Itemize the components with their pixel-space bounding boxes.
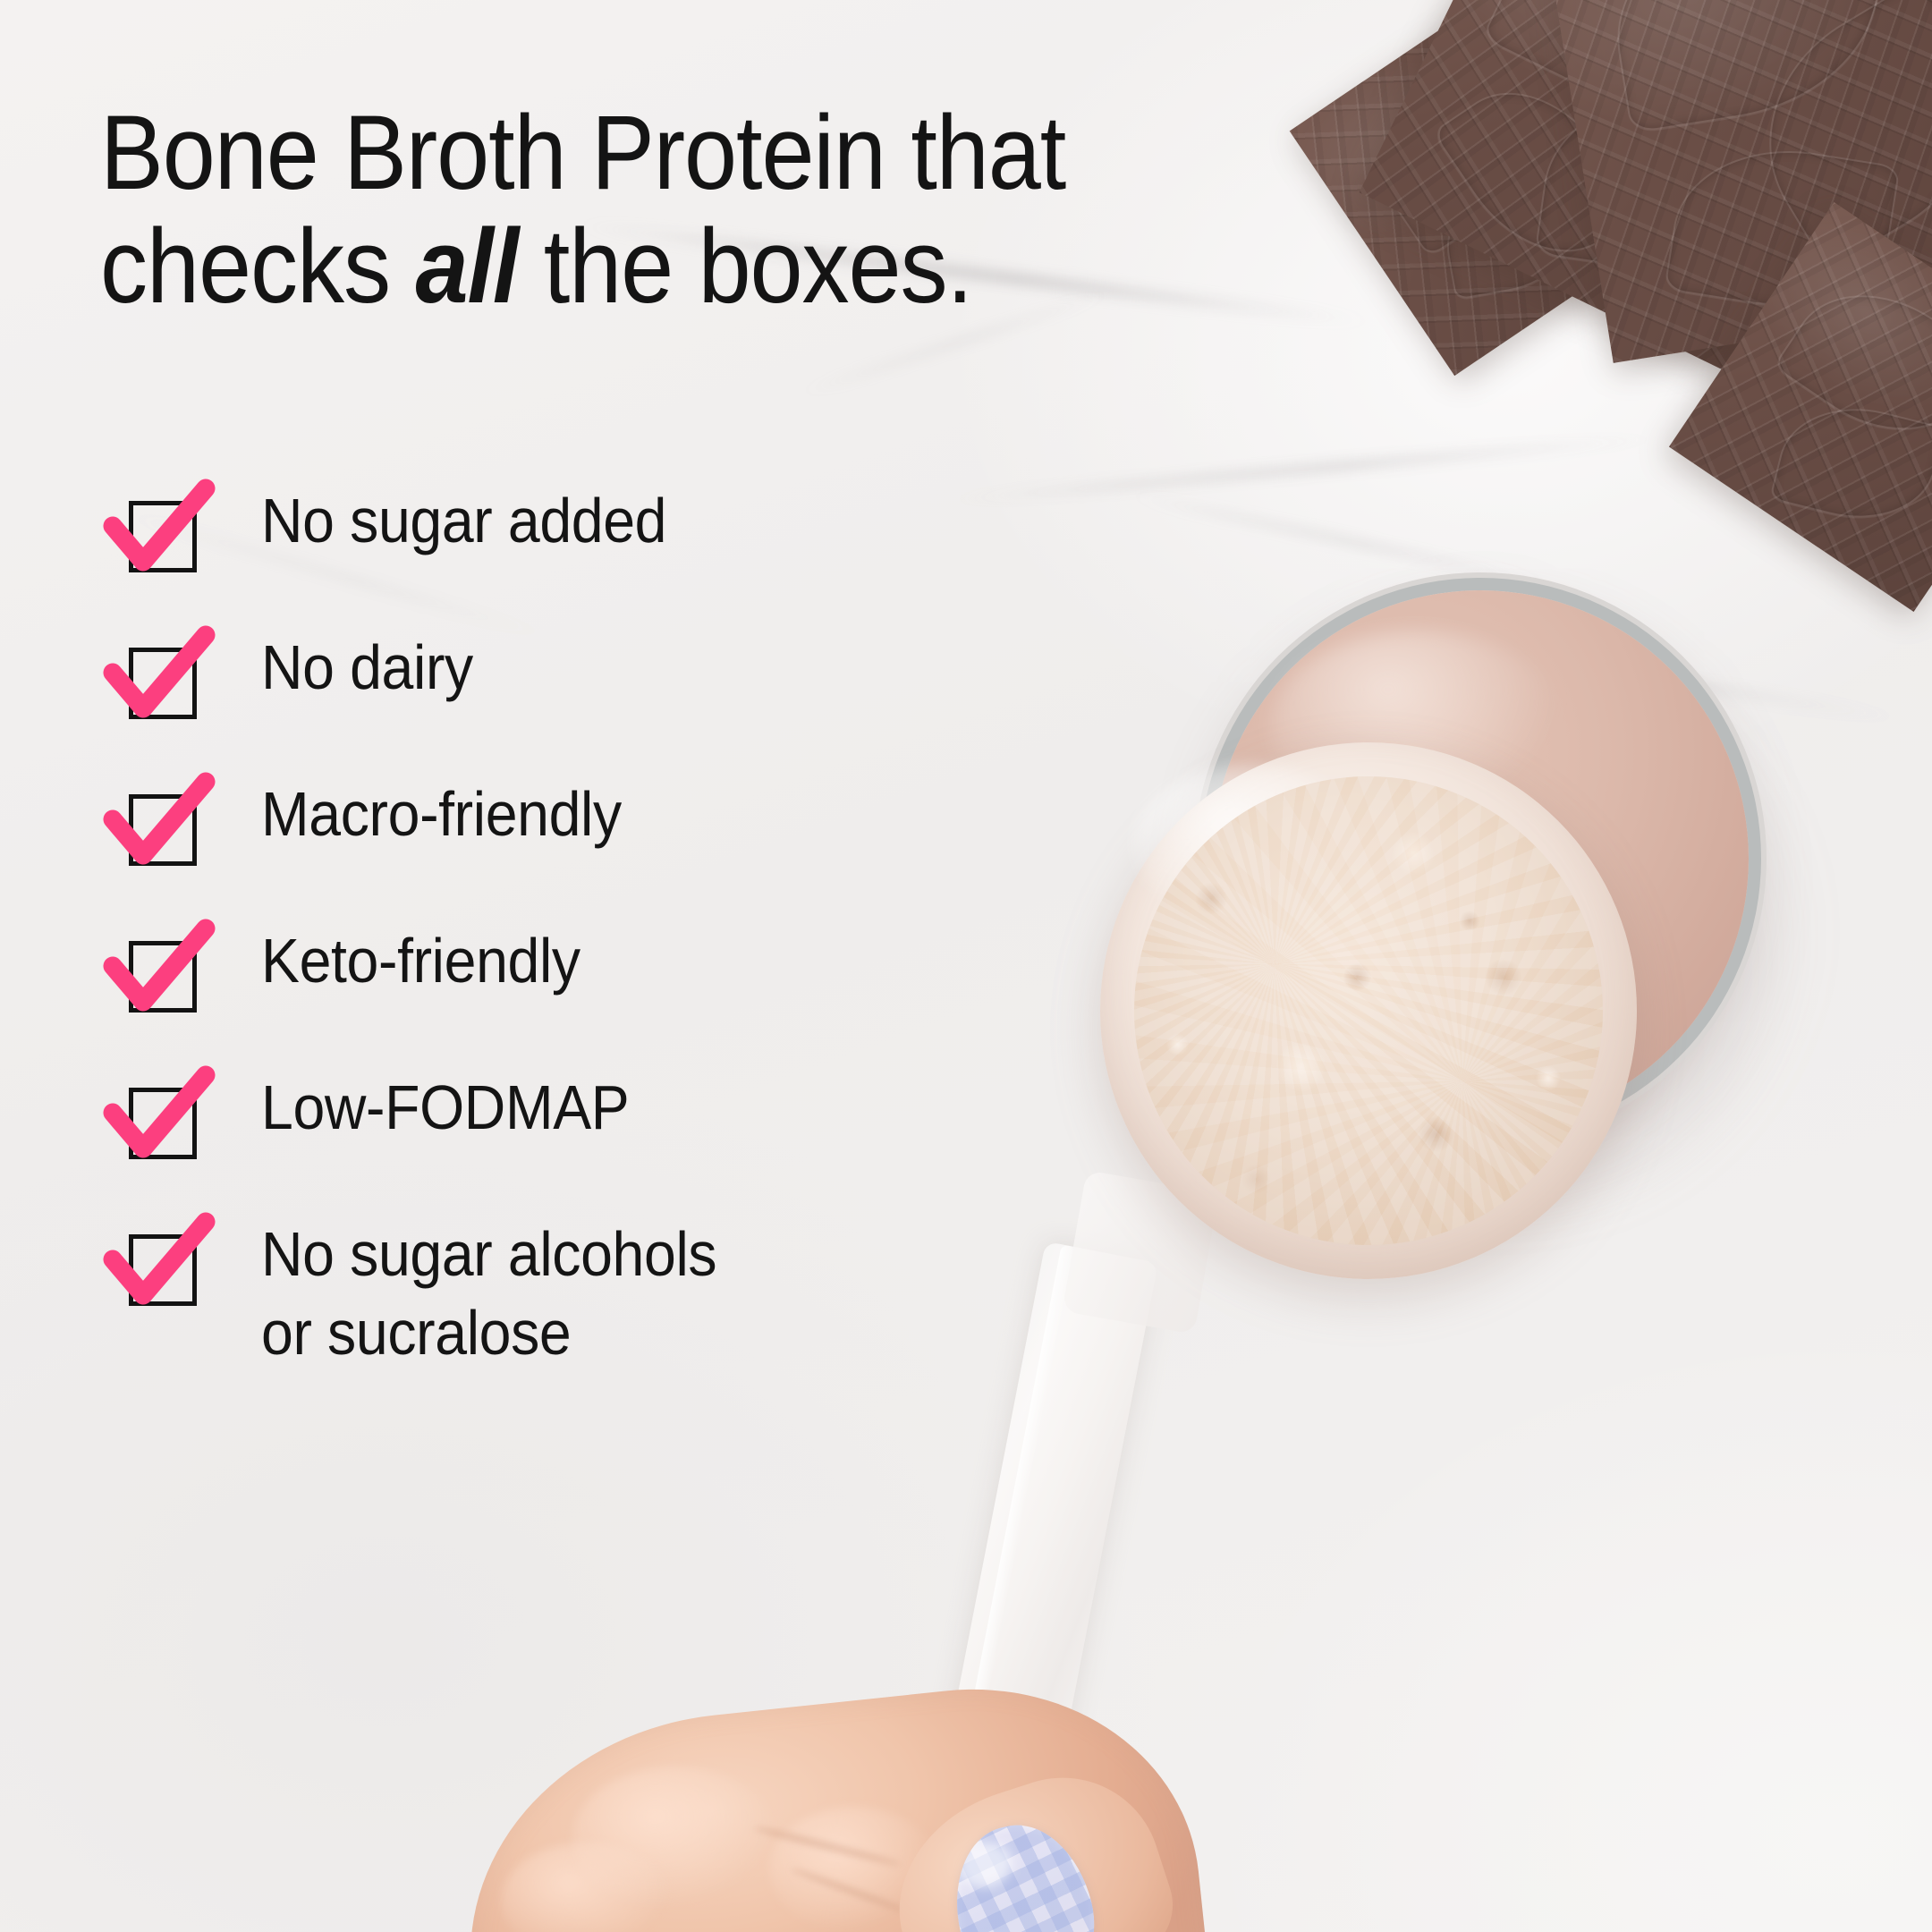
page-title: Bone Broth Protein that checks all the b… <box>100 97 1243 325</box>
headline-line-1: Bone Broth Protein that <box>100 94 1065 212</box>
checklist-item-label: No sugar alcohols or sucralose <box>261 1207 1064 1372</box>
checkbox-no-sugar-added[interactable] <box>106 479 218 565</box>
benefits-checklist: No sugar added No dairy Ma <box>106 474 1134 1372</box>
promo-graphic: Bone Broth Protein that checks all the b… <box>0 0 1932 1932</box>
checkbox-no-dairy[interactable] <box>106 626 218 712</box>
checkmark-icon <box>106 626 218 724</box>
checklist-item-macro-friendly[interactable]: Macro-friendly <box>106 767 1134 859</box>
checklist-item-no-dairy[interactable]: No dairy <box>106 621 1134 712</box>
checkmark-icon <box>106 1066 218 1165</box>
checklist-item-keto-friendly[interactable]: Keto-friendly <box>106 914 1134 1005</box>
checkmark-icon <box>106 479 218 578</box>
checklist-item-no-sugar-alcohols[interactable]: No sugar alcohols or sucralose <box>106 1207 1134 1372</box>
checklist-item-label: No dairy <box>261 621 1064 707</box>
checklist-item-label: No sugar added <box>261 474 1064 560</box>
checkbox-no-sugar-alcohols[interactable] <box>106 1213 218 1299</box>
checklist-item-low-fodmap[interactable]: Low-FODMAP <box>106 1061 1134 1152</box>
checklist-item-label: Low-FODMAP <box>261 1061 1064 1147</box>
headline-line-2-before: checks <box>100 208 415 326</box>
headline-line-2-after: the boxes. <box>518 208 972 326</box>
checklist-item-label: Keto-friendly <box>261 914 1064 1000</box>
checkbox-macro-friendly[interactable] <box>106 773 218 859</box>
headline-emphasis: all <box>415 208 518 326</box>
checkmark-icon <box>106 1213 218 1311</box>
checklist-item-label: Macro-friendly <box>261 767 1064 853</box>
checkbox-keto-friendly[interactable] <box>106 919 218 1005</box>
checklist-item-no-sugar-added[interactable]: No sugar added <box>106 474 1134 565</box>
checkmark-icon <box>106 773 218 871</box>
checkmark-icon <box>106 919 218 1018</box>
checkbox-low-fodmap[interactable] <box>106 1066 218 1152</box>
